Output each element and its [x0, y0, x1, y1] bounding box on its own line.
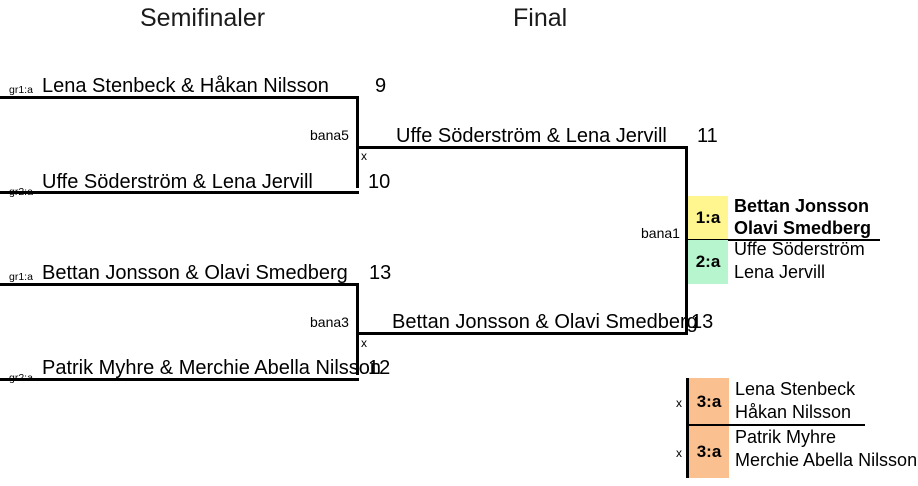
- placement-badge-1: 1:a: [688, 196, 728, 240]
- semifinal-1-top-seed: gr1:a: [9, 84, 33, 96]
- placement-3-player-2: Håkan Nilsson: [735, 401, 851, 424]
- placement-row-4[interactable]: x 3:a Patrik Myhre Merchie Abella Nilsso…: [689, 426, 918, 478]
- semifinal-2-x-mark: x: [361, 337, 367, 350]
- semifinal-1-top-rule: [0, 96, 359, 99]
- semifinal-2-court-label: bana3: [310, 314, 349, 330]
- semifinal-1-bottom-score: 10: [368, 170, 390, 194]
- semifinal-1-top-score: 9: [375, 74, 386, 98]
- semifinal-2-top-score: 13: [369, 261, 391, 285]
- semifinal-2-top-seed: gr1:a: [9, 271, 33, 283]
- semifinal-1-connector: [356, 96, 359, 188]
- final-court-label: bana1: [641, 225, 680, 241]
- placement-badge-4: 3:a: [689, 426, 729, 478]
- final-top-score: 11: [697, 124, 718, 148]
- placement-badge-2: 2:a: [688, 240, 728, 284]
- placement-1-player-2: Olavi Smedberg: [734, 217, 871, 240]
- round-heading-semifinals: Semifinaler: [140, 3, 265, 33]
- final-bottom-team: Bettan Jonsson & Olavi Smedberg: [392, 310, 698, 334]
- semifinal-2-bottom-score: 12: [368, 356, 390, 380]
- semifinal-1-x-mark: x: [361, 150, 367, 163]
- placement-3-player-1: Lena Stenbeck: [735, 378, 855, 401]
- bracket-canvas: Semifinaler Final gr1:a Lena Stenbeck & …: [0, 0, 918, 486]
- placement-3-x-mark: x: [676, 397, 682, 410]
- semifinal-2-bottom-rule: [0, 378, 359, 381]
- semifinal-1-bottom-rule: [0, 191, 359, 194]
- semifinal-2-bottom-team: Patrik Myhre & Merchie Abella Nilsson: [42, 356, 381, 380]
- placement-badge-3: 3:a: [689, 378, 729, 426]
- placement-4-player-2: Merchie Abella Nilsson: [735, 449, 917, 472]
- semifinal-2-top-team: Bettan Jonsson & Olavi Smedberg: [42, 261, 348, 285]
- semifinal-1-top-team: Lena Stenbeck & Håkan Nilsson: [42, 74, 329, 98]
- final-top-rule: [358, 146, 688, 149]
- placement-4-x-mark: x: [676, 447, 682, 460]
- final-top-team: Uffe Söderström & Lena Jervill: [396, 124, 667, 148]
- placement-row-3[interactable]: x 3:a Lena Stenbeck Håkan Nilsson: [689, 378, 918, 426]
- placement-1-player-1: Bettan Jonsson: [734, 195, 869, 218]
- placement-row-2[interactable]: 2:a Uffe Söderström Lena Jervill: [688, 240, 918, 284]
- placement-row-1[interactable]: 1:a Bettan Jonsson Olavi Smedberg: [688, 196, 918, 240]
- final-bottom-score: 13: [691, 310, 713, 334]
- placement-2-player-1: Uffe Söderström: [734, 238, 865, 261]
- semifinal-1-court-label: bana5: [310, 127, 349, 143]
- semifinal-2-top-rule: [0, 283, 359, 286]
- placement-2-player-2: Lena Jervill: [734, 261, 825, 284]
- round-heading-final: Final: [513, 3, 567, 33]
- placement-4-player-1: Patrik Myhre: [735, 426, 836, 449]
- final-bottom-rule: [358, 332, 688, 335]
